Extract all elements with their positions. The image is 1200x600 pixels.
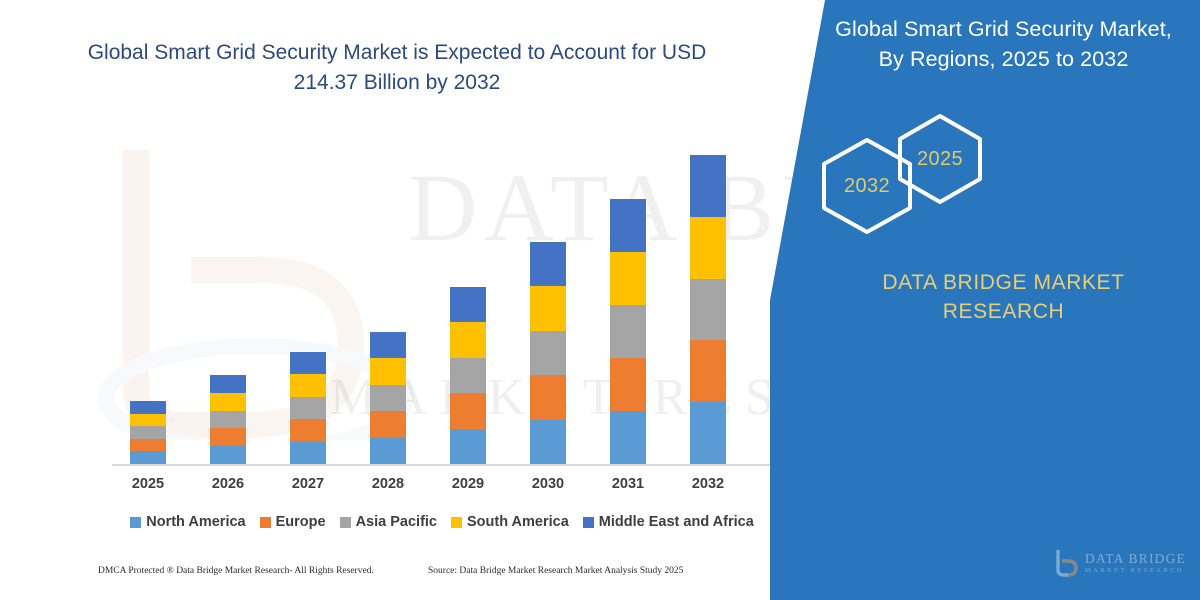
footer-copyright: DMCA Protected ® Data Bridge Market Rese…: [98, 566, 374, 576]
x-axis-label-2032: 2032: [668, 476, 748, 492]
footer-source: Source: Data Bridge Market Research Mark…: [428, 566, 683, 576]
bar-segment: [130, 414, 166, 427]
legend-item[interactable]: Middle East and Africa: [583, 514, 754, 530]
legend-label: Europe: [276, 514, 326, 530]
bar-2025: [130, 401, 166, 464]
bar-segment: [690, 402, 726, 464]
bar-segment: [530, 331, 566, 375]
legend-swatch-icon: [130, 517, 141, 528]
bar-segment: [530, 420, 566, 464]
legend-item[interactable]: Europe: [260, 514, 326, 530]
legend-item[interactable]: North America: [130, 514, 245, 530]
stacked-bar-chart: 20252026202720282029203020312032: [0, 0, 800, 600]
bar-segment: [450, 429, 486, 464]
infographic-page: DATA BRIDGE MARKET RESEARCH Global Smart…: [0, 0, 1200, 600]
x-axis-label-2030: 2030: [508, 476, 588, 492]
right-panel-title: Global Smart Grid Security Market, By Re…: [825, 14, 1182, 74]
bar-segment: [290, 352, 326, 374]
bar-segment: [530, 286, 566, 330]
bar-segment: [290, 419, 326, 441]
bar-segment: [210, 446, 246, 464]
hexagon-2025: 2025: [894, 112, 986, 206]
x-axis-labels: 20252026202720282029203020312032: [0, 476, 800, 498]
bar-segment: [450, 287, 486, 322]
legend-swatch-icon: [340, 517, 351, 528]
legend-swatch-icon: [451, 517, 462, 528]
legend-item[interactable]: Asia Pacific: [340, 514, 437, 530]
bar-segment: [450, 322, 486, 357]
bar-segment: [210, 411, 246, 429]
bar-2027: [290, 352, 326, 464]
x-axis-label-2031: 2031: [588, 476, 668, 492]
legend-item[interactable]: South America: [451, 514, 569, 530]
hexagon-2032-label: 2032: [844, 175, 890, 198]
bar-segment: [370, 358, 406, 384]
brand-line-2: RESEARCH: [825, 297, 1182, 326]
right-panel: Global Smart Grid Security Market, By Re…: [770, 0, 1200, 600]
bar-2028: [370, 332, 406, 464]
x-axis-label-2029: 2029: [428, 476, 508, 492]
bar-segment: [130, 439, 166, 452]
bar-segment: [130, 451, 166, 464]
bar-2032: [690, 155, 726, 464]
bar-segment: [530, 375, 566, 419]
bar-segment: [530, 242, 566, 286]
logo-b-mark-icon: [1053, 548, 1079, 578]
bar-segment: [450, 358, 486, 393]
bar-segment: [450, 393, 486, 428]
bar-segment: [610, 358, 646, 411]
legend-label: North America: [146, 514, 245, 530]
brand-line-1: DATA BRIDGE MARKET: [825, 268, 1182, 297]
bar-segment: [370, 411, 406, 437]
bar-segment: [690, 217, 726, 279]
bar-segment: [370, 438, 406, 464]
legend-swatch-icon: [583, 517, 594, 528]
bar-2031: [610, 199, 646, 464]
hexagon-2025-label: 2025: [917, 148, 963, 171]
logo-text: DATA BRIDGE MARKET RESEARCH: [1085, 552, 1186, 574]
legend-label: Middle East and Africa: [599, 514, 754, 530]
logo-line-2: MARKET RESEARCH: [1085, 568, 1186, 575]
bar-segment: [610, 199, 646, 252]
bar-2026: [210, 375, 246, 464]
dbmr-logo: DATA BRIDGE MARKET RESEARCH: [1053, 548, 1186, 578]
bar-segment: [610, 252, 646, 305]
x-axis-label-2025: 2025: [108, 476, 188, 492]
bar-2029: [450, 287, 486, 464]
bar-segment: [610, 411, 646, 464]
bar-segment: [290, 397, 326, 419]
hexagon-group: 2032 2025: [770, 112, 1200, 237]
legend-label: South America: [467, 514, 569, 530]
brand-name: DATA BRIDGE MARKET RESEARCH: [825, 268, 1182, 326]
legend-label: Asia Pacific: [356, 514, 437, 530]
x-axis-label-2027: 2027: [268, 476, 348, 492]
bar-segment: [290, 374, 326, 396]
chart-baseline: [112, 464, 772, 466]
bar-segment: [610, 305, 646, 358]
bar-segment: [210, 375, 246, 393]
legend-swatch-icon: [260, 517, 271, 528]
x-axis-label-2028: 2028: [348, 476, 428, 492]
bar-2030: [530, 242, 566, 464]
bar-segment: [370, 332, 406, 358]
logo-line-1: DATA BRIDGE: [1085, 552, 1186, 566]
bar-segment: [290, 442, 326, 464]
chart-legend: North AmericaEuropeAsia PacificSouth Ame…: [112, 514, 772, 530]
bar-segment: [370, 385, 406, 411]
x-axis-label-2026: 2026: [188, 476, 268, 492]
bar-segment: [130, 401, 166, 414]
bar-segment: [210, 428, 246, 446]
bar-segment: [690, 155, 726, 217]
bar-segment: [690, 279, 726, 341]
bar-segment: [130, 426, 166, 439]
bar-segment: [210, 393, 246, 411]
bar-segment: [690, 340, 726, 402]
